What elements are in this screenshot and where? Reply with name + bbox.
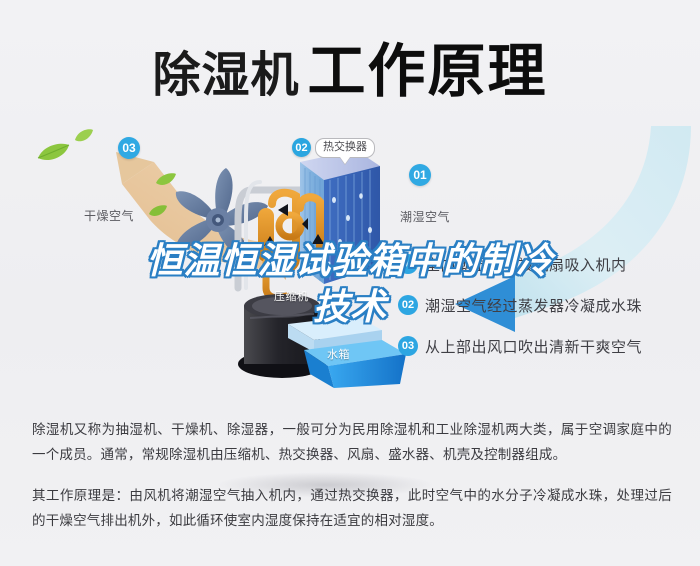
list-item: 01 室内潮湿空气被风扇吸入机内 [398, 252, 698, 276]
compressor-label: 压缩机 [274, 288, 309, 304]
heat-exchanger-label: 热交换器 [315, 138, 375, 158]
step-badge: 02 [398, 295, 418, 315]
list-item: 03 从上部出风口吹出清新干爽空气 [398, 334, 698, 358]
mark-02-badge: 02 [292, 138, 311, 157]
article-body: 除湿机又称为抽湿机、干燥机、除湿器，一般可分为民用除湿机和工业除湿机两大类，属于… [32, 418, 672, 550]
mark-03-badge: 03 [118, 137, 140, 159]
body-paragraph-1: 除湿机又称为抽湿机、干燥机、除湿器，一般可分为民用除湿机和工业除湿机两大类，属于… [32, 418, 672, 468]
page-title-part1: 除湿机 [152, 49, 299, 102]
dry-air-label: 干燥空气 [84, 207, 134, 224]
step-badge: 01 [398, 254, 418, 274]
step-text: 从上部出风口吹出清新干爽空气 [425, 336, 642, 357]
page-title-part2: 工作原理 [308, 39, 548, 104]
list-item: 02 潮湿空气经过蒸发器冷凝成水珠 [398, 293, 698, 317]
humid-air-label: 潮湿空气 [400, 208, 450, 225]
mark-01-badge: 01 [409, 164, 431, 186]
page-title: 除湿机工作原理 [0, 24, 700, 108]
process-step-list: 01 室内潮湿空气被风扇吸入机内 02 潮湿空气经过蒸发器冷凝成水珠 03 从上… [398, 252, 698, 375]
step-badge: 03 [398, 336, 418, 356]
step-text: 室内潮湿空气被风扇吸入机内 [425, 254, 627, 275]
body-paragraph-2: 其工作原理是：由风机将潮湿空气抽入机内，通过热交换器，此时空气中的水分子冷凝成水… [32, 484, 672, 534]
water-tank-label: 水箱 [327, 346, 350, 362]
infographic-page: 除湿机工作原理 [0, 0, 700, 566]
leaf-icon [74, 128, 94, 144]
step-text: 潮湿空气经过蒸发器冷凝成水珠 [425, 295, 642, 316]
heat-exchanger-callout: 02 热交换器 [292, 138, 375, 158]
dehumidifier-machine [230, 138, 420, 388]
leaf-icon [36, 142, 70, 164]
